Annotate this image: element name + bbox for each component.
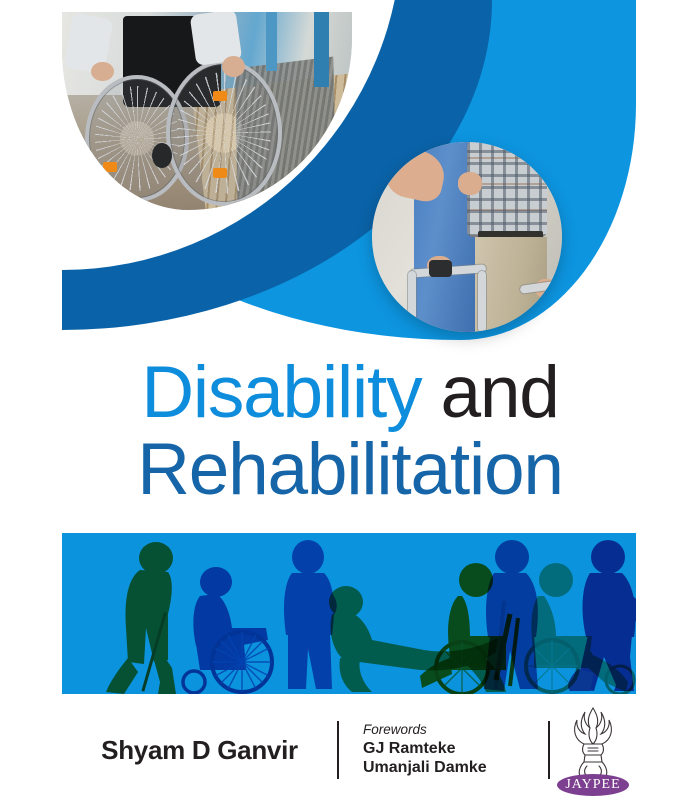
walker-hand-grip: [429, 260, 452, 277]
silhouette-band: [62, 533, 636, 694]
walker-leg-right: [478, 271, 486, 332]
page-title: Disability and Rehabilitation: [0, 358, 700, 506]
jaypee-badge: JAYPEE: [557, 774, 629, 796]
building-pillar: [314, 12, 329, 87]
hand-on-rim-right: [222, 56, 245, 78]
jaypee-logo: JAYPEE: [554, 704, 632, 796]
photo-nurse-with-walker: [372, 142, 562, 332]
cover-artwork: [0, 0, 700, 365]
foreword-author-two: Umanjali Damke: [363, 758, 548, 778]
torch-flame-icon: [554, 704, 632, 780]
forewords-block: Forewords GJ Ramteke Umanjali Damke: [339, 722, 548, 778]
forewords-label: Forewords: [363, 722, 548, 739]
title-line-one: Disability and: [0, 358, 700, 429]
credits-row: Shyam D Ganvir Forewords GJ Ramteke Uman…: [62, 700, 636, 800]
title-word-and: and: [440, 352, 558, 433]
wheel-reflector: [213, 91, 228, 101]
wheelchair-wheel-right: [166, 60, 281, 207]
walker-leg-left: [408, 271, 416, 332]
title-line-two: Rehabilitation: [0, 435, 700, 506]
building-pillar-secondary: [266, 12, 276, 71]
book-cover: brothers.com, for detailed information o…: [0, 0, 700, 800]
author-name: Shyam D Ganvir: [62, 735, 337, 766]
patient-hand-upper: [458, 172, 483, 195]
left-white-margin: [0, 0, 62, 365]
publisher-block: JAYPEE: [550, 704, 636, 796]
photo-wheelchair-ramp: [62, 12, 352, 210]
title-word-disability: Disability: [141, 352, 421, 433]
silhouette-running-person-with-prosthetic: [560, 539, 636, 694]
wheel-reflector: [103, 162, 118, 172]
foreword-author-one: GJ Ramteke: [363, 739, 548, 759]
wheel-reflector: [213, 168, 228, 178]
title-word-rehabilitation: Rehabilitation: [137, 429, 563, 510]
right-white-margin: [636, 0, 700, 365]
